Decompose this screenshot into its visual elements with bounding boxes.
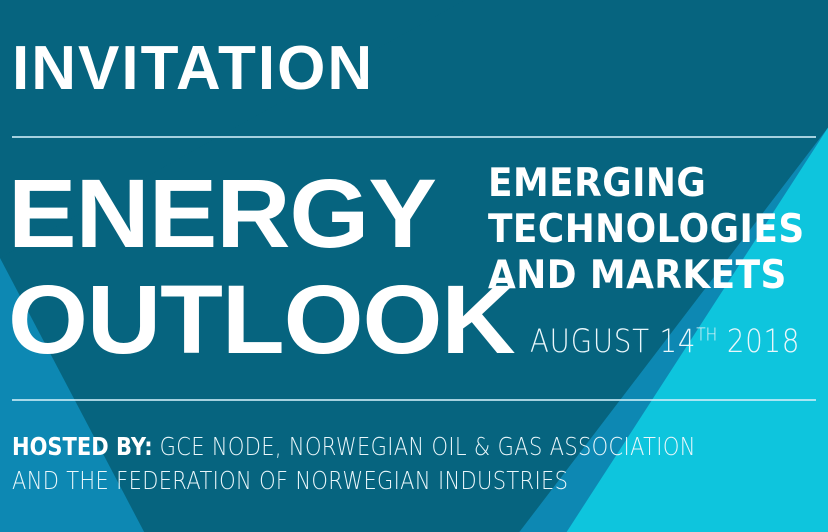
hosted-by-line-2: AND THE FEDERATION OF NORWEGIAN INDUSTRI… bbox=[12, 464, 696, 498]
hosted-by-orgs-1: GCE NODE, NORWEGIAN OIL & GAS ASSOCIATIO… bbox=[160, 432, 696, 461]
subtitle-block: EMERGING TECHNOLOGIES AND MARKETS bbox=[488, 161, 805, 299]
title-line-energy: ENERGY bbox=[8, 166, 436, 261]
hosted-by-label: HOSTED BY: bbox=[12, 432, 153, 461]
event-date-year: 2018 bbox=[727, 322, 800, 360]
kicker-invitation: INVITATION bbox=[12, 38, 374, 100]
invitation-poster: INVITATION ENERGY OUTLOOK EMERGING TECHN… bbox=[0, 0, 828, 532]
hosted-by-block: HOSTED BY: GCE NODE, NORWEGIAN OIL & GAS… bbox=[12, 430, 696, 498]
event-date-ordinal: TH bbox=[696, 324, 717, 345]
event-date-day: AUGUST 14 bbox=[530, 322, 696, 360]
hosted-by-line-1: HOSTED BY: GCE NODE, NORWEGIAN OIL & GAS… bbox=[12, 430, 696, 464]
subtitle-line-3: AND MARKETS bbox=[488, 253, 805, 299]
poster-content: INVITATION ENERGY OUTLOOK EMERGING TECHN… bbox=[0, 0, 828, 532]
event-date: AUGUST 14TH 2018 bbox=[530, 322, 800, 360]
subtitle-line-1: EMERGING bbox=[488, 161, 805, 207]
title-line-outlook: OUTLOOK bbox=[8, 272, 515, 367]
subtitle-line-2: TECHNOLOGIES bbox=[488, 207, 805, 253]
